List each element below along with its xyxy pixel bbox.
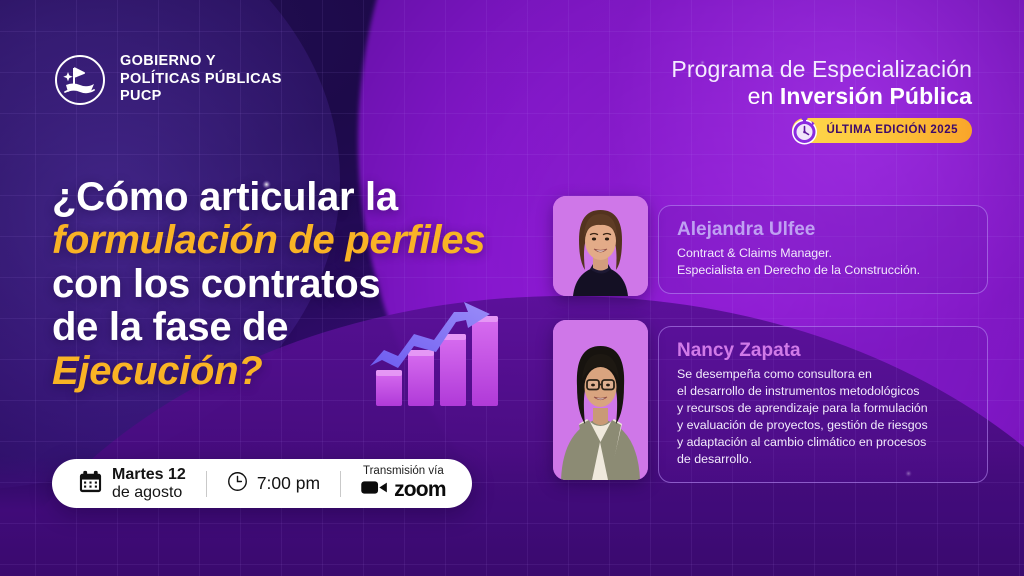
avatar [553,320,648,480]
promo-banner: GOBIERNO Y POLÍTICAS PÚBLICAS PUCP Progr… [0,0,1024,576]
speaker-name: Nancy Zapata [677,340,969,363]
divider [340,471,341,497]
video-camera-icon [361,480,388,500]
event-date-text: Martes 12 de agosto [112,466,186,502]
event-time: 7:00 pm [227,471,320,497]
speaker-description: Se desempeña como consultora en el desar… [677,366,969,469]
clock-icon [227,471,248,497]
divider [206,471,207,497]
speaker-name: Alejandra Ulfee [677,219,969,242]
stopwatch-icon [787,113,822,148]
program-title-line1: Programa de Especialización [671,56,972,83]
headline-line-1: ¿Cómo articular la [52,176,522,219]
event-date-day: Martes 12 [112,466,186,484]
event-date-month: de agosto [112,484,186,502]
speaker-info: Nancy Zapata Se desempeña como consultor… [658,326,988,483]
program-title-strong: Inversión Pública [780,83,972,109]
speaker-description: Contract & Claims Manager. Especialista … [677,245,969,279]
zoom-wordmark: zoom [394,478,446,502]
speaker-info: Alejandra Ulfee Contract & Claims Manage… [658,205,988,294]
brand-logo-text: GOBIERNO Y POLÍTICAS PÚBLICAS PUCP [120,53,282,106]
pucp-caravel-ship-icon [54,54,106,106]
speaker-card-nancy-zapata: Nancy Zapata Se desempeña como consultor… [553,320,988,483]
edition-badge: ÚLTIMA EDICIÓN 2025 [792,118,972,143]
program-title-prefix: en [748,83,780,109]
growth-bar-chart-arrow-icon [368,278,508,408]
event-info-bar: Martes 12 de agosto 7:00 pm Transmisión … [52,459,472,508]
speaker-card-alejandra-ulfee: Alejandra Ulfee Contract & Claims Manage… [553,196,988,296]
headline-line-2: formulación de perfiles [52,219,522,262]
brand-logo: GOBIERNO Y POLÍTICAS PÚBLICAS PUCP [54,53,282,106]
program-title-block: Programa de Especialización en Inversión… [671,56,972,143]
edition-badge-label: ÚLTIMA EDICIÓN 2025 [826,124,958,136]
avatar [553,196,648,296]
broadcast-platform: Transmisión vía zoom [361,465,446,502]
broadcast-caption: Transmisión vía [361,465,446,477]
program-title-line2: en Inversión Pública [671,83,972,111]
event-date: Martes 12 de agosto [78,466,186,502]
calendar-icon [78,469,103,499]
event-time-text: 7:00 pm [257,473,320,494]
